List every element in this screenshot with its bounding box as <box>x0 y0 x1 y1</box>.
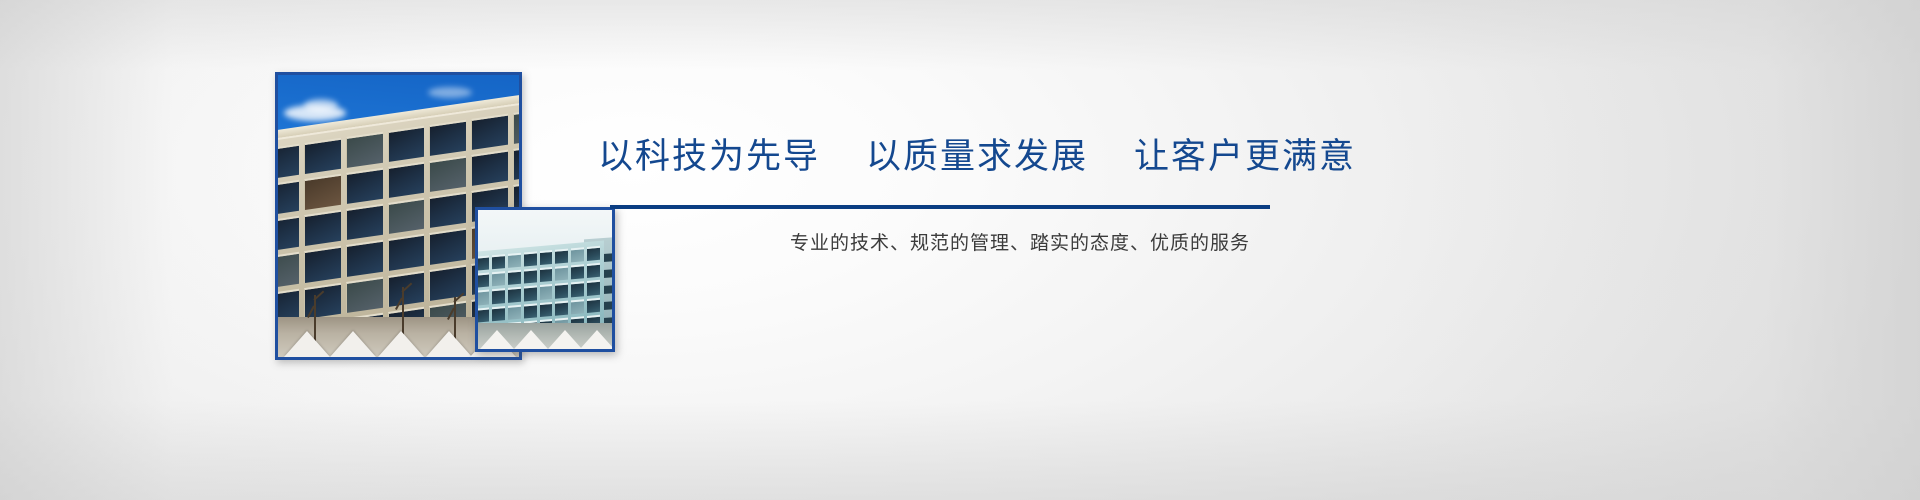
window <box>429 156 466 192</box>
window <box>571 247 584 262</box>
window <box>304 210 341 246</box>
window <box>275 180 299 216</box>
window <box>346 276 383 312</box>
white-tent <box>378 331 424 357</box>
window <box>524 269 537 284</box>
window <box>555 249 568 264</box>
window <box>476 273 489 288</box>
cloud-shape <box>304 99 338 112</box>
window <box>275 144 299 180</box>
white-tent <box>426 331 472 357</box>
window <box>346 168 383 204</box>
window <box>471 150 508 186</box>
window <box>540 301 553 316</box>
window <box>304 138 341 174</box>
window <box>540 267 553 282</box>
window <box>540 284 553 299</box>
window <box>587 246 600 261</box>
window <box>388 234 425 270</box>
headline-divider <box>610 205 1270 209</box>
window <box>540 250 553 265</box>
window <box>388 162 425 198</box>
company-slogan-banner: 以科技为先导以质量求发展让客户更满意 专业的技术、规范的管理、踏实的态度、优质的… <box>0 0 1920 500</box>
window <box>571 264 584 279</box>
window <box>587 263 600 278</box>
window <box>429 228 466 264</box>
white-tent <box>580 330 614 349</box>
window <box>476 256 489 271</box>
window <box>346 204 383 240</box>
window <box>513 144 522 180</box>
window <box>476 290 489 305</box>
window <box>513 108 522 144</box>
window <box>388 198 425 234</box>
window <box>304 246 341 282</box>
window <box>304 174 341 210</box>
slogan-headline: 以科技为先导以质量求发展让客户更满意 <box>598 140 1356 175</box>
window <box>388 126 425 162</box>
slogan-phrase-2: 以质量求发展 <box>866 137 1088 177</box>
window <box>429 192 466 228</box>
window <box>429 120 466 156</box>
window <box>508 304 521 319</box>
inset-glass-building-photo <box>475 207 615 352</box>
white-tent <box>284 331 330 357</box>
window <box>275 216 299 252</box>
window <box>555 283 568 298</box>
white-tent <box>330 331 376 357</box>
slogan-phrase-1: 以科技为先导 <box>598 137 820 177</box>
window <box>524 303 537 318</box>
window <box>508 253 521 268</box>
window <box>587 280 600 295</box>
window <box>571 282 584 297</box>
window <box>524 286 537 301</box>
window <box>275 252 299 288</box>
window <box>555 300 568 315</box>
window <box>492 306 505 321</box>
slogan-subtitle: 专业的技术、规范的管理、踏实的态度、优质的服务 <box>790 234 1250 253</box>
window <box>508 270 521 285</box>
window <box>346 240 383 276</box>
slogan-phrase-3: 让客户更满意 <box>1134 137 1356 177</box>
window <box>524 251 537 266</box>
window <box>492 271 505 286</box>
window <box>346 132 383 168</box>
window <box>476 307 489 322</box>
cloud-shape <box>428 87 472 98</box>
white-tent <box>548 330 582 349</box>
white-tent <box>514 330 548 349</box>
window <box>492 254 505 269</box>
window <box>555 266 568 281</box>
window <box>571 299 584 314</box>
window <box>508 287 521 302</box>
window <box>587 297 600 312</box>
white-tent <box>480 330 514 349</box>
window <box>492 288 505 303</box>
window <box>471 114 508 150</box>
